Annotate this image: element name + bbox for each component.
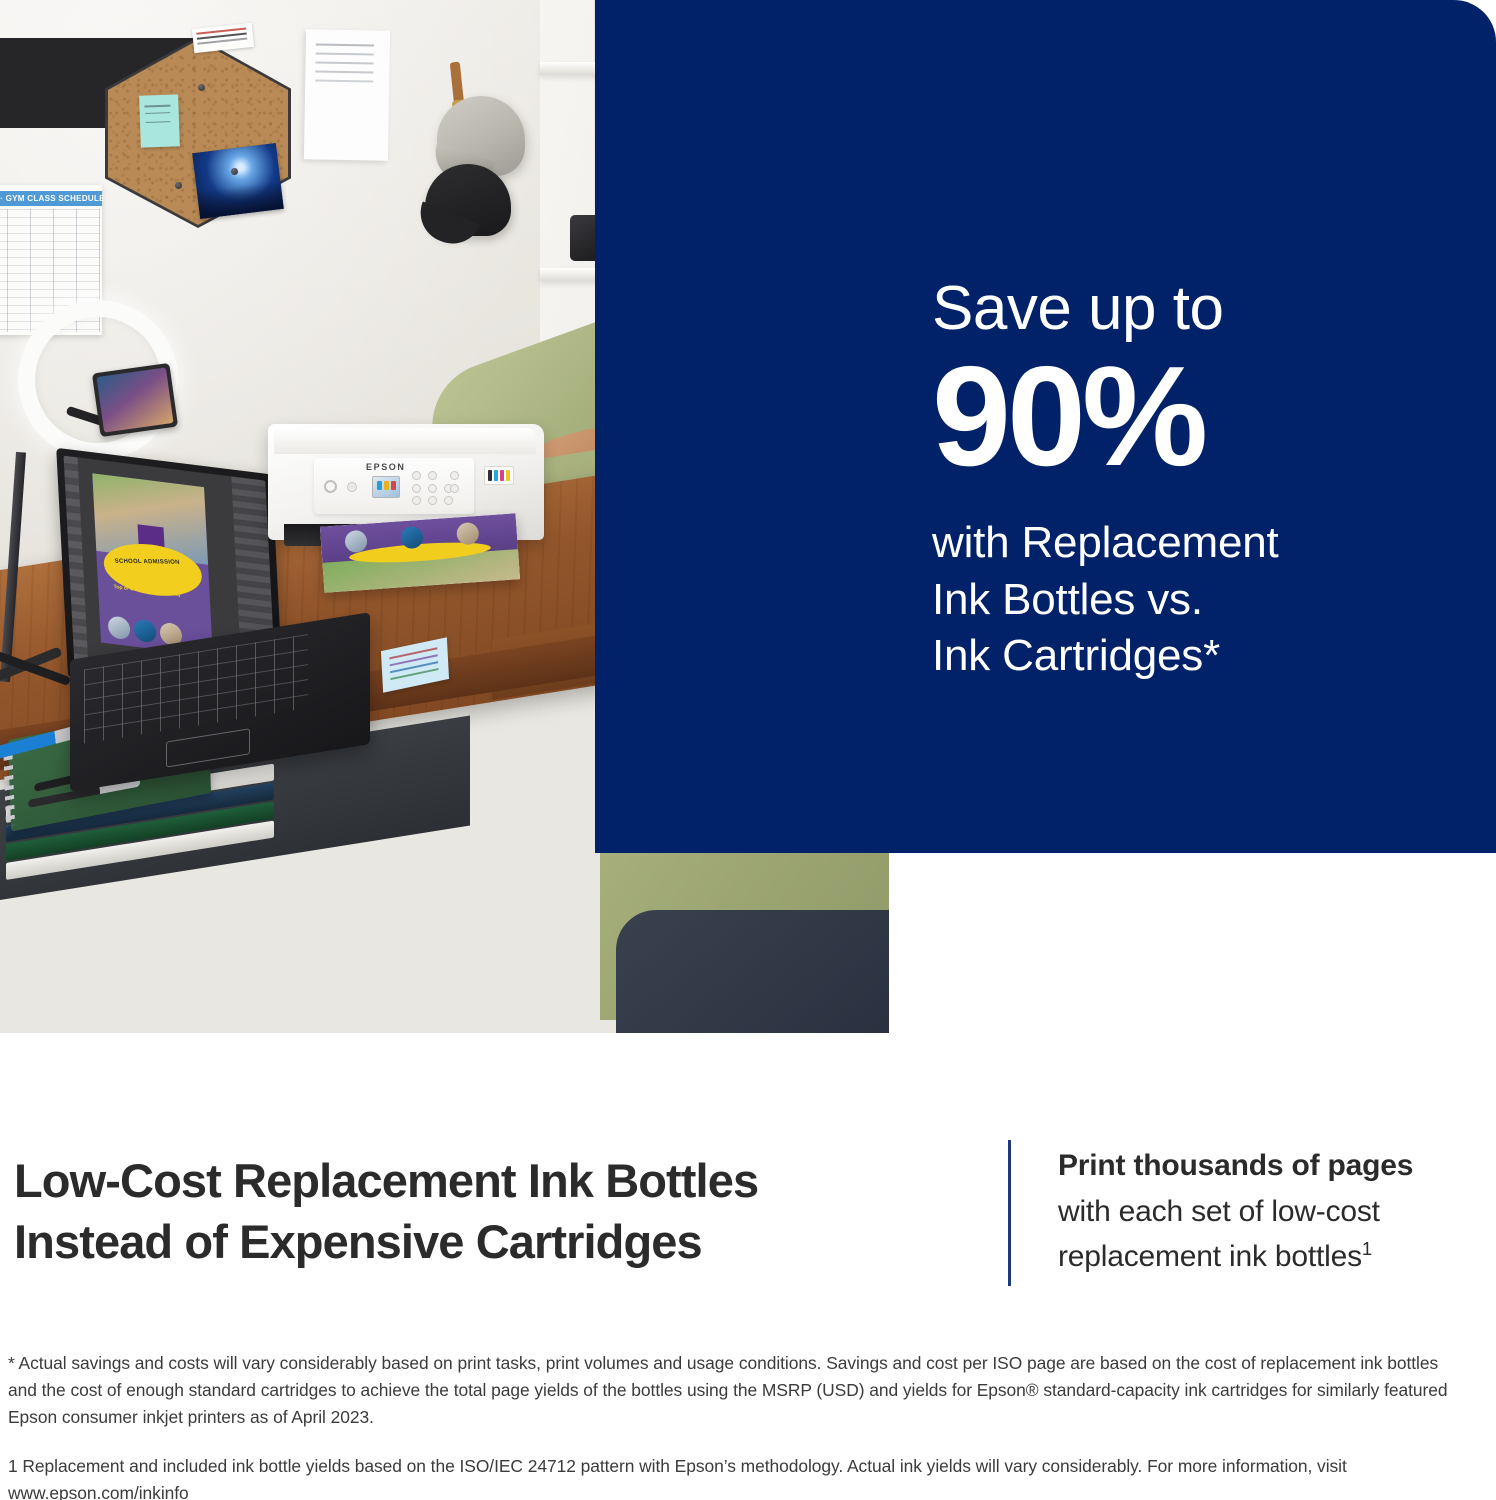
canvas-title: SCHOOL ADMISSION xyxy=(114,558,180,565)
keypad-button[interactable] xyxy=(450,484,459,493)
footnote-star: * Actual savings and costs will vary con… xyxy=(8,1350,1452,1431)
promo-subtext-line-2: Ink Bottles vs. xyxy=(932,572,1472,628)
epson-printer: EPSON xyxy=(268,408,544,558)
secondary-headline-line-3-text: replacement ink bottles xyxy=(1058,1240,1362,1273)
canvas-circle xyxy=(108,615,131,640)
sticky-note xyxy=(139,94,180,147)
keypad-button[interactable] xyxy=(412,496,421,505)
printer-keypad[interactable] xyxy=(412,471,460,505)
ink-yellow xyxy=(506,470,510,481)
keypad-button[interactable] xyxy=(412,471,421,480)
paper-lines xyxy=(316,43,374,46)
schedule-header-bar: NG · GYM CLASS SCHEDULE xyxy=(0,191,102,206)
keypad-button[interactable] xyxy=(428,471,437,480)
ink-black xyxy=(488,470,492,481)
ink-magenta xyxy=(500,470,504,481)
printer-control-panel: EPSON xyxy=(314,458,474,514)
promo-panel: Save up to 90% with Replacement Ink Bott… xyxy=(595,0,1496,853)
footnotes: * Actual savings and costs will vary con… xyxy=(8,1350,1452,1500)
bottom-section: Low-Cost Replacement Ink Bottles Instead… xyxy=(0,1035,1496,1500)
secondary-headline-line-2: with each set of low-cost xyxy=(1058,1189,1488,1235)
lcd-icon xyxy=(377,481,382,490)
promo-subtext-line-3: Ink Cartridges* xyxy=(932,628,1472,684)
secondary-headline: Print thousands of pages with each set o… xyxy=(1058,1143,1488,1280)
design-app-toolbar-left xyxy=(64,456,89,671)
secondary-headline-line-1: Print thousands of pages xyxy=(1058,1143,1488,1189)
push-pin xyxy=(231,168,238,175)
pinned-paper xyxy=(304,29,390,160)
wifi-button[interactable] xyxy=(347,482,357,492)
keypad-button[interactable] xyxy=(450,471,459,480)
main-headline-line-1: Low-Cost Replacement Ink Bottles xyxy=(14,1150,974,1211)
promo-line-1: Save up to xyxy=(932,276,1472,343)
phone-screen xyxy=(96,367,173,432)
marketing-banner: NG · GYM CLASS SCHEDULE xyxy=(0,0,1496,1500)
printer-lcd-screen xyxy=(372,476,400,498)
ink-cyan xyxy=(494,470,498,481)
laptop-trackpad xyxy=(166,728,250,767)
promo-percentage: 90% xyxy=(932,349,1472,485)
vertical-divider xyxy=(1008,1140,1011,1286)
keypad-button[interactable] xyxy=(444,496,453,505)
lcd-icon xyxy=(384,481,389,490)
keypad-button[interactable] xyxy=(428,496,437,505)
handwriting-lines xyxy=(144,105,170,108)
ticket-lines xyxy=(196,28,246,35)
sticky-note-lines xyxy=(389,647,437,659)
epson-logo: EPSON xyxy=(366,462,406,472)
printer-lid xyxy=(274,428,536,454)
push-pin xyxy=(175,182,182,189)
push-pin xyxy=(198,84,205,91)
main-headline-line-2: Instead of Expensive Cartridges xyxy=(14,1211,974,1272)
secondary-headline-line-3: replacement ink bottles1 xyxy=(1058,1234,1488,1280)
legs xyxy=(616,910,889,1033)
printed-flyer xyxy=(320,513,520,593)
power-button[interactable] xyxy=(324,480,337,493)
schedule-label: NG · GYM CLASS SCHEDULE xyxy=(0,194,105,203)
grey-cap xyxy=(437,96,525,176)
ink-tank-window xyxy=(484,466,514,485)
promo-subtext-line-1: with Replacement xyxy=(932,515,1472,571)
footnote-marker: 1 xyxy=(1362,1238,1372,1259)
hero-section: NG · GYM CLASS SCHEDULE xyxy=(0,0,1496,1035)
lcd-icon xyxy=(391,481,396,490)
spiral-binding xyxy=(3,745,15,826)
main-headline: Low-Cost Replacement Ink Bottles Instead… xyxy=(14,1150,974,1272)
canvas-circle xyxy=(134,619,157,644)
concert-photo xyxy=(192,143,283,219)
keypad-button[interactable] xyxy=(412,484,421,493)
design-canvas: SCHOOL ADMISSION Top of Undergraduate St… xyxy=(92,473,213,656)
keypad-button[interactable] xyxy=(428,484,437,493)
promo-subtext: with Replacement Ink Bottles vs. Ink Car… xyxy=(932,515,1472,684)
footnote-one: 1 Replacement and included ink bottle yi… xyxy=(8,1453,1452,1500)
promo-copy: Save up to 90% with Replacement Ink Bott… xyxy=(932,276,1472,684)
phone-holder xyxy=(92,363,178,437)
